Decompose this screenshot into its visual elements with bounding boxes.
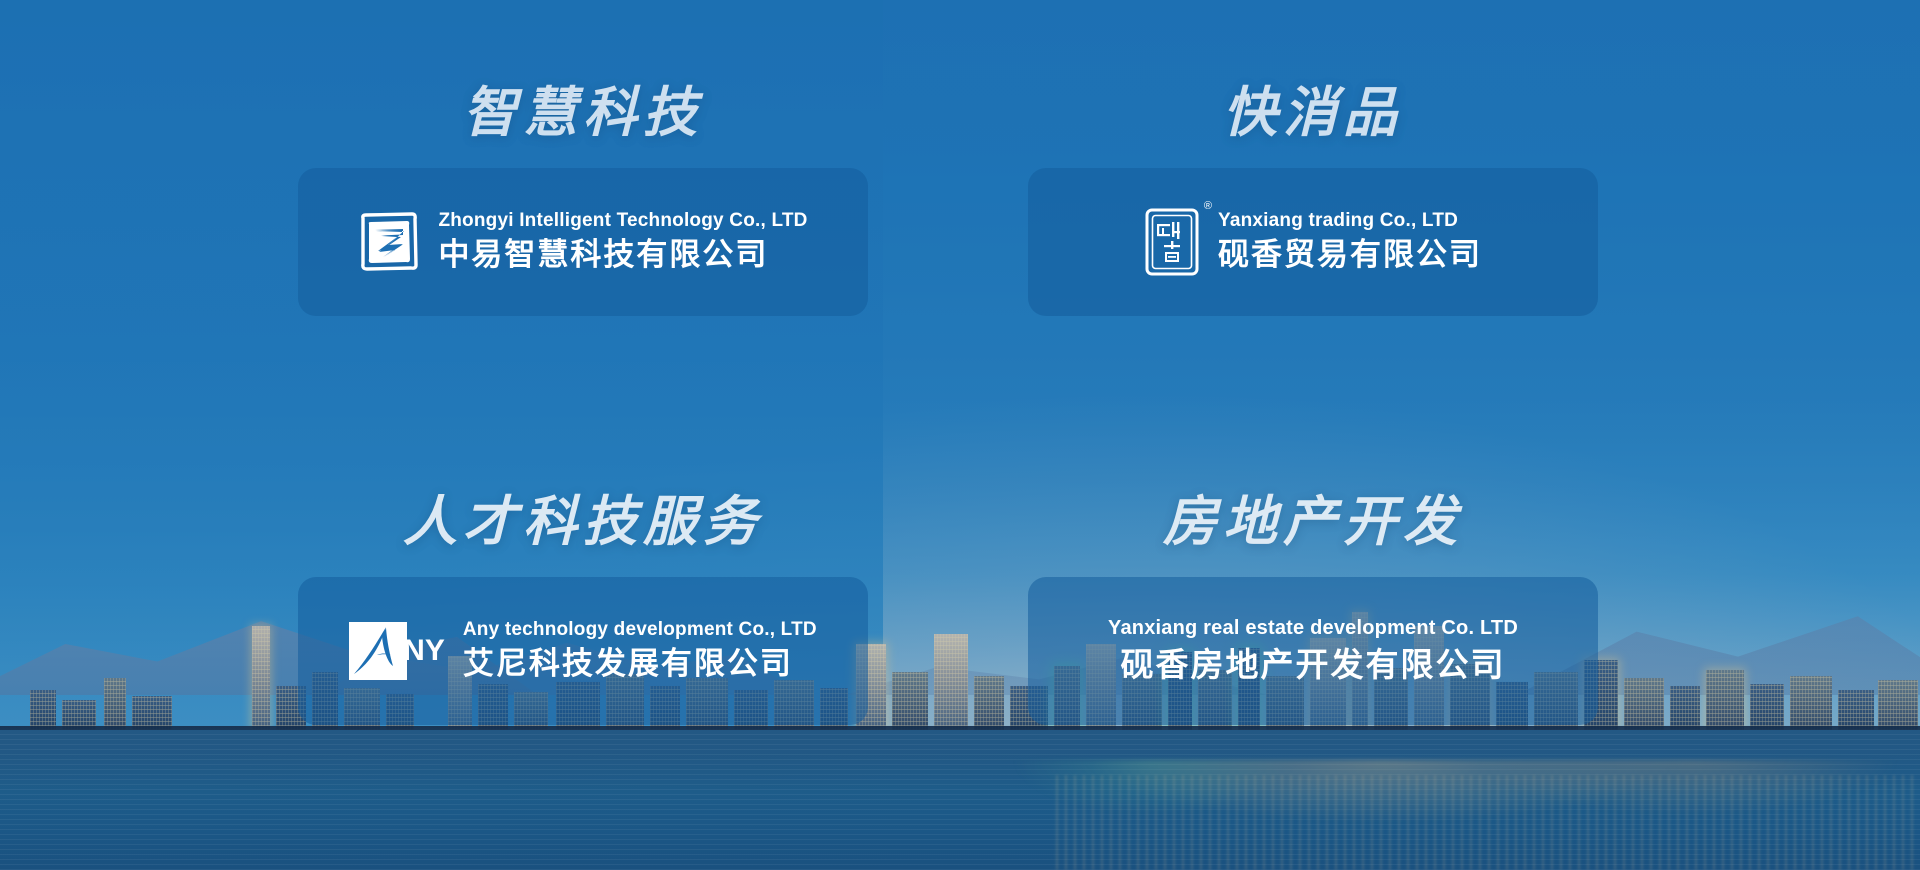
company-name-cn: 砚香房地产开发有限公司 — [1121, 644, 1506, 685]
company-name-cn: 中易智慧科技有限公司 — [438, 236, 807, 275]
company-info: Any technology development Co., LTD 艾尼科技… — [463, 618, 817, 684]
any-logo-mark — [349, 622, 407, 680]
segment-talent-services: 人才科技服务 NY — [0, 435, 960, 870]
segment-smart-technology: 智慧科技 Zhongyi Intelligent Technology Co.,… — [0, 0, 960, 435]
zhongyi-seal-logo-icon — [358, 211, 420, 273]
segment-title: 智慧科技 — [298, 86, 868, 140]
company-card[interactable]: Yanxiang real estate development Co. LTD… — [1028, 577, 1598, 725]
company-card[interactable]: ® Yanxiang trading Co., LTD 砚香贸易有限公司 — [1028, 168, 1598, 316]
company-name-en: Yanxiang trading Co., LTD — [1218, 209, 1482, 233]
segment-title: 房地产开发 — [1028, 495, 1598, 549]
segment-title: 快消品 — [1028, 86, 1598, 140]
company-name-en: Yanxiang real estate development Co. LTD — [1108, 616, 1518, 641]
segment-real-estate: 房地产开发 Yanxiang real estate development C… — [960, 435, 1920, 870]
any-logo-text: NY — [403, 636, 445, 666]
company-name-en: Any technology development Co., LTD — [463, 618, 817, 642]
registered-trademark-icon: ® — [1204, 201, 1212, 212]
banner-stage: 智慧科技 Zhongyi Intelligent Technology Co.,… — [0, 0, 1920, 870]
company-name-en: Zhongyi Intelligent Technology Co., LTD — [438, 209, 807, 233]
company-card[interactable]: Zhongyi Intelligent Technology Co., LTD … — [298, 168, 868, 316]
company-name-cn: 砚香贸易有限公司 — [1218, 236, 1482, 275]
segments-grid: 智慧科技 Zhongyi Intelligent Technology Co.,… — [0, 0, 1920, 870]
company-info: Yanxiang trading Co., LTD 砚香贸易有限公司 — [1218, 209, 1482, 275]
company-info: Zhongyi Intelligent Technology Co., LTD … — [438, 209, 807, 275]
segment-title: 人才科技服务 — [298, 495, 868, 549]
company-info: Yanxiang real estate development Co. LTD… — [1108, 616, 1518, 685]
segment-fmcg: 快消品 — [960, 0, 1920, 435]
company-card[interactable]: NY Any technology development Co., LTD 艾… — [298, 577, 868, 725]
yanxiang-seal-logo-icon: ® — [1144, 207, 1200, 277]
any-logo-icon: NY — [349, 622, 445, 680]
company-name-cn: 艾尼科技发展有限公司 — [463, 645, 817, 684]
